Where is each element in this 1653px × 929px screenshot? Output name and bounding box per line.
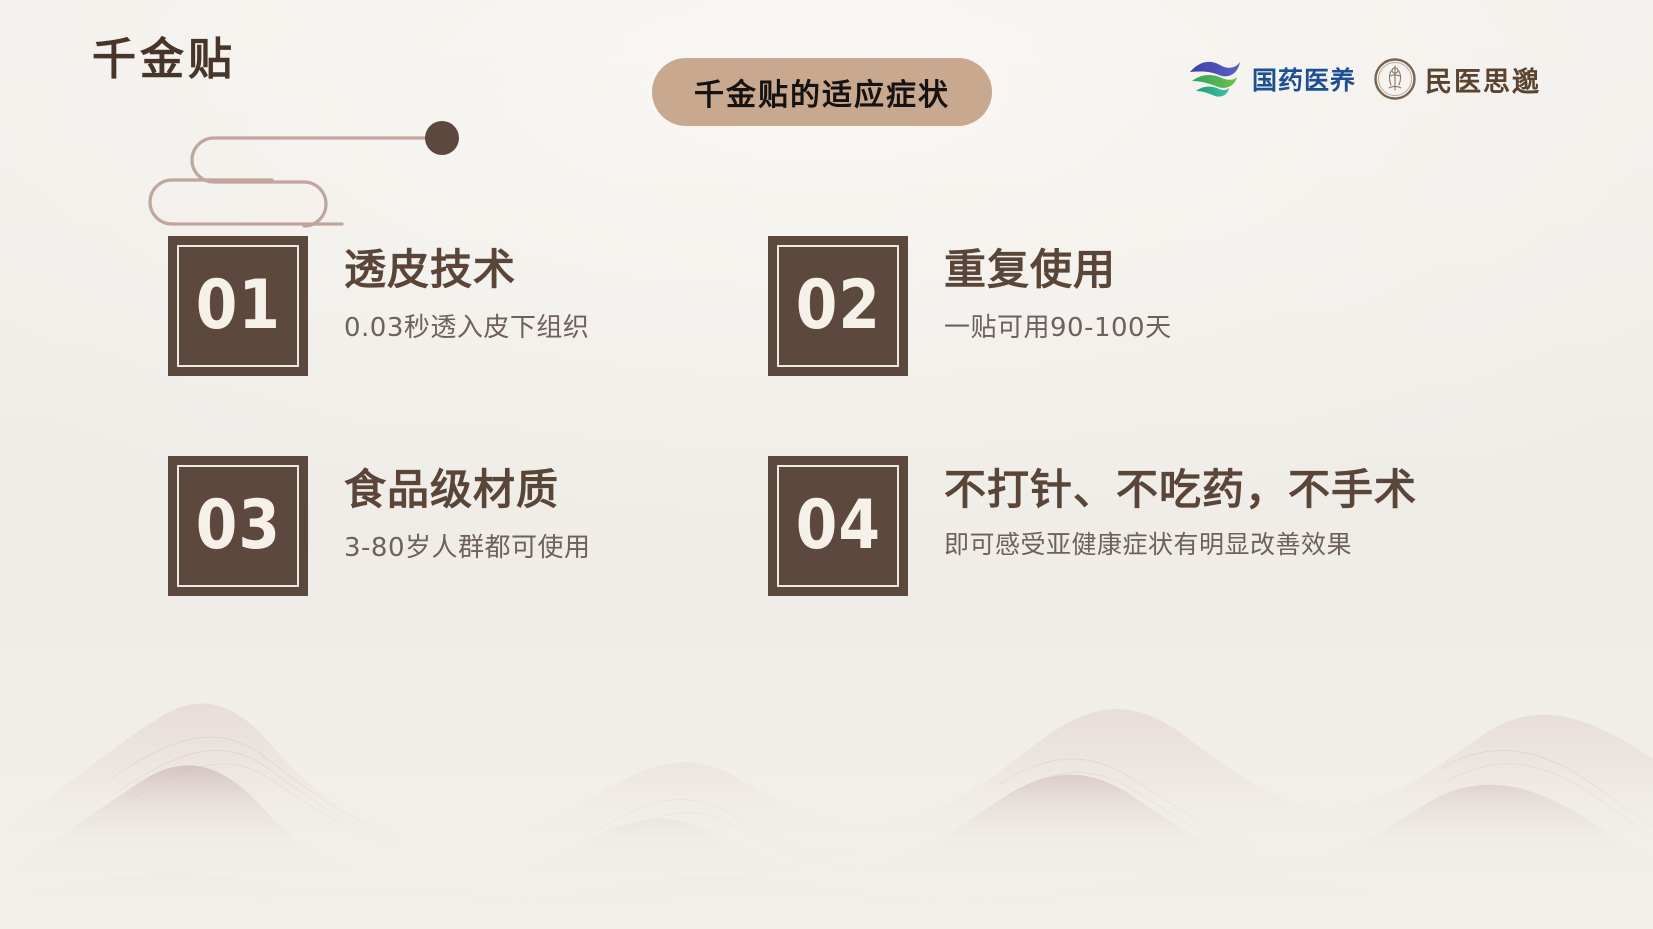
- feature-copy: 重复使用 一贴可用90-100天: [908, 236, 1172, 344]
- feature-card-02: 02 重复使用 一贴可用90-100天: [768, 236, 1498, 456]
- feature-number: 02: [795, 272, 880, 340]
- seal-stamp-icon: [1372, 56, 1418, 102]
- feature-number-frame: 01: [177, 245, 299, 367]
- feature-number-box: 01: [168, 236, 308, 376]
- feature-copy: 食品级材质 3-80岁人群都可使用: [308, 456, 591, 564]
- feature-title: 透皮技术: [344, 246, 589, 293]
- feature-subtitle: 即可感受亚健康症状有明显改善效果: [944, 525, 1417, 561]
- feature-subtitle: 0.03秒透入皮下组织: [344, 307, 589, 344]
- feature-card-01: 01 透皮技术 0.03秒透入皮下组织: [168, 236, 768, 456]
- feature-number-box: 04: [768, 456, 908, 596]
- sinopharm-wave-icon: [1186, 56, 1244, 102]
- feature-title: 不打针、不吃药，不手术: [944, 466, 1417, 513]
- page-title-badge: 千金贴的适应症状: [652, 58, 992, 126]
- feature-subtitle: 3-80岁人群都可使用: [344, 527, 591, 564]
- logo-sinopharm: 国药医养: [1186, 56, 1356, 102]
- feature-card-04: 04 不打针、不吃药，不手术 即可感受亚健康症状有明显改善效果: [768, 456, 1498, 676]
- feature-number-frame: 04: [777, 465, 899, 587]
- feature-card-03: 03 食品级材质 3-80岁人群都可使用: [168, 456, 768, 676]
- feature-title: 重复使用: [944, 246, 1172, 293]
- brand-block: 千金贴: [92, 38, 512, 178]
- feature-copy: 透皮技术 0.03秒透入皮下组织: [308, 236, 589, 344]
- feature-number: 03: [195, 492, 280, 560]
- feature-number-frame: 02: [777, 245, 899, 367]
- feature-grid: 01 透皮技术 0.03秒透入皮下组织 02 重复使用 一贴可用90-100天: [168, 236, 1498, 676]
- logo-minyisimiao-label: 民医思邈: [1425, 60, 1541, 99]
- feature-number-frame: 03: [177, 465, 299, 587]
- feature-number-box: 03: [168, 456, 308, 596]
- logo-minyisimiao: 民医思邈: [1372, 56, 1541, 102]
- page-title: 千金贴的适应症状: [694, 70, 950, 114]
- bottom-mist-fade: [0, 759, 1653, 929]
- feature-number-box: 02: [768, 236, 908, 376]
- feature-copy: 不打针、不吃药，不手术 即可感受亚健康症状有明显改善效果: [908, 456, 1417, 561]
- poster-canvas: 千金贴 千金贴的适应症状: [0, 0, 1653, 929]
- brand-name: 千金贴: [92, 38, 512, 82]
- logo-group: 国药医养 民医思邈: [1186, 48, 1541, 110]
- meander-line-ornament-icon: [74, 80, 474, 200]
- logo-sinopharm-label: 国药医养: [1252, 61, 1356, 97]
- feature-number: 01: [195, 272, 280, 340]
- feature-number: 04: [795, 492, 880, 560]
- feature-title: 食品级材质: [344, 466, 591, 513]
- feature-subtitle: 一贴可用90-100天: [944, 307, 1172, 344]
